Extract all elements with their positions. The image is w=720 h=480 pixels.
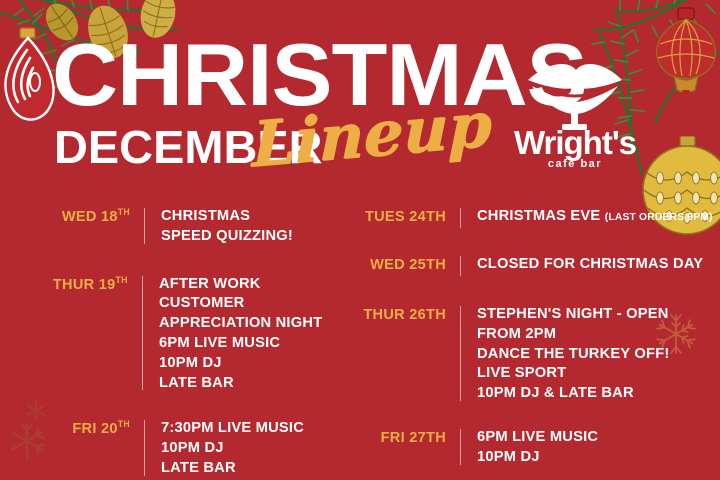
schedule-entry: THUR 26TH STEPHEN'S NIGHT - OPEN FROM 2P… xyxy=(340,304,720,403)
entry-description: CLOSED FOR CHRISTMAS DAY xyxy=(477,254,703,274)
schedule-entry: THUR 19TH AFTER WORK CUSTOMER APPRECIATI… xyxy=(20,274,350,393)
brand-logo: Wright's café bar xyxy=(500,58,650,173)
entry-date-ordinal: TH xyxy=(118,207,130,217)
entry-date: WED 25TH xyxy=(343,254,446,275)
entry-date-ordinal: TH xyxy=(118,419,130,429)
schedule-left-column: WED 18TH CHRISTMAS SPEED QUIZZING! THUR … xyxy=(20,206,350,480)
entry-description: CHRISTMAS EVE (LAST ORDERS 9PM) xyxy=(477,206,713,226)
entry-line: FROM 2PM xyxy=(477,324,670,344)
entry-date: FRI 27TH xyxy=(343,427,446,448)
entry-line: LATE BAR xyxy=(161,458,304,478)
entry-divider xyxy=(144,420,145,475)
entry-date-text: WED 18 xyxy=(62,208,118,225)
entry-line: AFTER WORK CUSTOMER xyxy=(159,274,346,314)
entry-line: APPRECIATION NIGHT xyxy=(159,313,346,333)
schedule-entry: WED 18TH CHRISTMAS SPEED QUIZZING! xyxy=(20,206,350,246)
entry-line: CLOSED FOR CHRISTMAS DAY xyxy=(477,254,703,274)
entry-divider xyxy=(460,429,461,465)
christmas-lineup-poster: CHRISTMAS DECEMBER Lineup Wright's café … xyxy=(0,0,720,480)
schedule-entry: FRI 27TH 6PM LIVE MUSIC 10PM DJ xyxy=(340,427,720,467)
schedule-entry: WED 25TH CLOSED FOR CHRISTMAS DAY xyxy=(340,254,720,278)
entry-date-ordinal: TH xyxy=(116,275,128,285)
entry-date-text: FRI 20 xyxy=(72,420,117,437)
entry-line: 10PM DJ xyxy=(161,438,304,458)
entry-date: FRI 20TH xyxy=(23,418,130,439)
schedule-right-column: TUES 24TH CHRISTMAS EVE (LAST ORDERS 9PM… xyxy=(340,206,720,480)
entry-date: TUES 24TH xyxy=(343,206,446,227)
page-title-script: Lineup xyxy=(251,93,491,176)
entry-description: 6PM LIVE MUSIC 10PM DJ xyxy=(477,427,598,467)
entry-line: 6PM LIVE MUSIC xyxy=(159,333,346,353)
entry-divider xyxy=(460,306,461,401)
entry-line-text: CHRISTMAS EVE xyxy=(477,207,600,224)
entry-description: CHRISTMAS SPEED QUIZZING! xyxy=(161,206,293,246)
entry-note: (LAST ORDERS 9PM) xyxy=(605,211,713,223)
entry-description: STEPHEN'S NIGHT - OPEN FROM 2PM DANCE TH… xyxy=(477,304,670,403)
entry-line: LATE BAR xyxy=(159,373,346,393)
entry-date: WED 18TH xyxy=(23,206,130,227)
entry-divider xyxy=(142,276,143,391)
entry-line: SPEED QUIZZING! xyxy=(161,226,293,246)
entry-description: 7:30PM LIVE MUSIC 10PM DJ LATE BAR xyxy=(161,418,304,477)
brand-name: Wright's xyxy=(500,126,650,159)
entry-date: THUR 19TH xyxy=(23,274,128,295)
entry-line: 10PM DJ & LATE BAR xyxy=(477,383,670,403)
entry-line: LIVE SPORT xyxy=(477,363,670,383)
poster-header: CHRISTMAS DECEMBER Lineup Wright's café … xyxy=(0,0,720,200)
brand-tagline: café bar xyxy=(500,158,650,170)
entry-line: CHRISTMAS xyxy=(161,206,293,226)
entry-line: 10PM DJ xyxy=(477,447,598,467)
entry-line: STEPHEN'S NIGHT - OPEN xyxy=(477,304,670,324)
entry-date-text: THUR 19 xyxy=(53,276,116,293)
entry-date: THUR 26TH xyxy=(343,304,446,325)
schedule-entry: FRI 20TH 7:30PM LIVE MUSIC 10PM DJ LATE … xyxy=(20,418,350,477)
entry-line: 7:30PM LIVE MUSIC xyxy=(161,418,304,438)
entry-line: 6PM LIVE MUSIC xyxy=(477,427,598,447)
schedule-entry: TUES 24TH CHRISTMAS EVE (LAST ORDERS 9PM… xyxy=(340,206,720,230)
entry-line: 10PM DJ xyxy=(159,353,346,373)
entry-divider xyxy=(460,256,461,276)
entry-line: CHRISTMAS EVE (LAST ORDERS 9PM) xyxy=(477,206,713,226)
entry-divider xyxy=(144,208,145,244)
entry-divider xyxy=(460,208,461,228)
entry-description: AFTER WORK CUSTOMER APPRECIATION NIGHT 6… xyxy=(159,274,346,393)
entry-line: DANCE THE TURKEY OFF! xyxy=(477,344,670,364)
